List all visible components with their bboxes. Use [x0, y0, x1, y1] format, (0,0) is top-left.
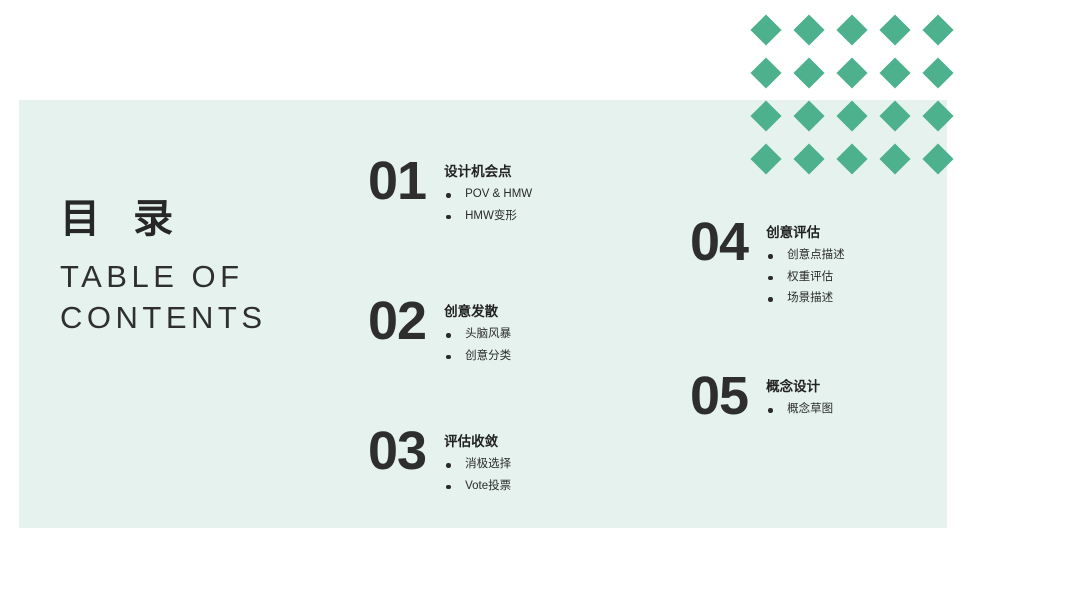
bullet-icon	[446, 355, 451, 360]
section-number: 05	[690, 373, 748, 419]
diamond-icon	[922, 57, 953, 88]
section-list-item-label: 概念草图	[787, 403, 833, 415]
section-body: 评估收敛 消极选择Vote投票	[426, 428, 511, 492]
section-number: 01	[368, 158, 426, 204]
section-title: 创意评估	[766, 225, 845, 241]
section-title: 设计机会点	[444, 164, 532, 180]
diamond-icon	[922, 100, 953, 131]
section-body: 创意发散 头脑风暴创意分类	[426, 298, 511, 362]
toc-section-04[interactable]: 04 创意评估 创意点描述权重评估场景描述	[690, 219, 845, 305]
section-item-list: 创意点描述权重评估场景描述	[766, 250, 845, 305]
section-number: 03	[368, 428, 426, 474]
diamond-icon	[879, 143, 910, 174]
section-list-item-label: 创意分类	[465, 350, 511, 362]
section-list-item: 权重评估	[766, 272, 845, 284]
section-body: 创意评估 创意点描述权重评估场景描述	[748, 219, 845, 305]
section-list-item-label: Vote投票	[465, 480, 511, 492]
diamond-icon	[750, 57, 781, 88]
diamond-icon	[793, 100, 824, 131]
diamond-icon	[750, 14, 781, 45]
section-list-item: 创意点描述	[766, 250, 845, 262]
section-list-item: Vote投票	[444, 481, 511, 493]
bullet-icon	[768, 276, 773, 281]
section-list-item: 消极选择	[444, 459, 511, 471]
diamond-icon	[793, 57, 824, 88]
section-title: 评估收敛	[444, 434, 511, 450]
diamond-icon	[836, 14, 867, 45]
page-title-cn: 目 录	[60, 196, 350, 242]
diamond-icon	[793, 14, 824, 45]
section-list-item-label: POV & HMW	[465, 188, 532, 200]
diamond-icon	[879, 57, 910, 88]
section-item-list: 概念草图	[766, 404, 833, 416]
toc-section-02[interactable]: 02 创意发散 头脑风暴创意分类	[368, 298, 511, 362]
section-list-item-label: 场景描述	[787, 292, 833, 304]
page-title-en-line2: CONTENTS	[60, 297, 350, 338]
toc-section-01[interactable]: 01 设计机会点 POV & HMWHMW变形	[368, 158, 532, 222]
bullet-icon	[446, 193, 451, 198]
section-body: 概念设计 概念草图	[748, 373, 833, 416]
section-item-list: 头脑风暴创意分类	[444, 329, 511, 362]
page-title-en: TABLE OF CONTENTS	[60, 256, 350, 338]
section-title: 创意发散	[444, 304, 511, 320]
bullet-icon	[446, 463, 451, 468]
section-item-list: POV & HMWHMW变形	[444, 189, 532, 222]
section-list-item-label: 头脑风暴	[465, 328, 511, 340]
section-item-list: 消极选择Vote投票	[444, 459, 511, 492]
diamond-icon	[836, 100, 867, 131]
diamond-icon	[879, 100, 910, 131]
section-list-item: POV & HMW	[444, 189, 532, 201]
section-list-item-label: 消极选择	[465, 458, 511, 470]
diamond-icon	[793, 143, 824, 174]
bullet-icon	[446, 333, 451, 338]
section-number: 04	[690, 219, 748, 265]
diamond-icon	[922, 143, 953, 174]
section-title: 概念设计	[766, 379, 833, 395]
title-block: 目 录 TABLE OF CONTENTS	[60, 196, 350, 338]
bullet-icon	[768, 254, 773, 259]
section-body: 设计机会点 POV & HMWHMW变形	[426, 158, 532, 222]
section-list-item: 头脑风暴	[444, 329, 511, 341]
page-title-en-line1: TABLE OF	[60, 256, 350, 297]
section-list-item: 概念草图	[766, 404, 833, 416]
diamond-icon	[750, 143, 781, 174]
section-list-item: HMW变形	[444, 211, 532, 223]
toc-section-05[interactable]: 05 概念设计 概念草图	[690, 373, 833, 419]
diamond-icon	[879, 14, 910, 45]
bullet-icon	[768, 408, 773, 413]
diamond-icon	[922, 14, 953, 45]
bullet-icon	[446, 485, 451, 490]
diamond-icon	[750, 100, 781, 131]
section-list-item: 场景描述	[766, 293, 845, 305]
toc-section-03[interactable]: 03 评估收敛 消极选择Vote投票	[368, 428, 511, 492]
section-list-item-label: 权重评估	[787, 271, 833, 283]
bullet-icon	[446, 215, 451, 220]
section-list-item: 创意分类	[444, 351, 511, 363]
diamond-icon	[836, 143, 867, 174]
bullet-icon	[768, 297, 773, 302]
section-list-item-label: HMW变形	[465, 210, 517, 222]
diamond-icon	[836, 57, 867, 88]
section-list-item-label: 创意点描述	[787, 249, 845, 261]
section-number: 02	[368, 298, 426, 344]
diamond-grid-decoration	[745, 9, 960, 202]
